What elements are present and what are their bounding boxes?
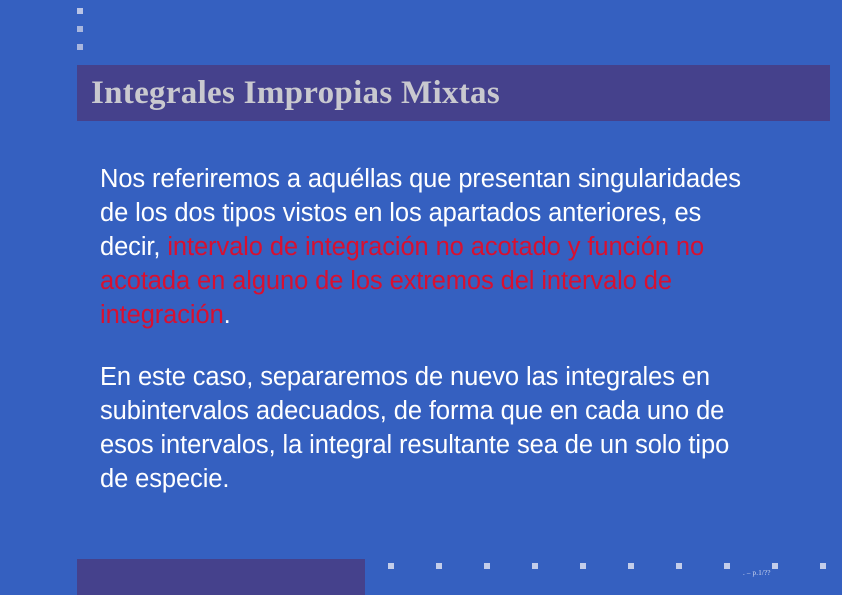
footer-dot-icon-6[interactable] bbox=[628, 563, 634, 569]
footer-dot-icon-8[interactable] bbox=[724, 563, 730, 569]
footer-progress-dots[interactable] bbox=[388, 559, 842, 595]
footer-accent-bar bbox=[77, 559, 365, 595]
slide-title: Integrales Impropias Mixtas bbox=[77, 77, 500, 110]
footer-dot-icon-5[interactable] bbox=[580, 563, 586, 569]
page-number-marker: . – p.1/?? bbox=[743, 569, 771, 577]
nav-dot-icon-2[interactable] bbox=[77, 26, 83, 32]
paragraph-2-segment-1: En este caso, separaremos de nuevo las i… bbox=[100, 363, 729, 493]
footer-dot-icon-9[interactable] bbox=[772, 563, 778, 569]
slide-body: Nos referiremos a aquéllas que presentan… bbox=[100, 162, 760, 496]
paragraph-1-segment-highlight: intervalo de integración no acotado y fu… bbox=[100, 233, 704, 329]
footer-dot-icon-10[interactable] bbox=[820, 563, 826, 569]
slide-title-band: Integrales Impropias Mixtas bbox=[77, 65, 830, 121]
nav-dot-icon-3[interactable] bbox=[77, 44, 83, 50]
nav-dot-icon-1[interactable] bbox=[77, 8, 83, 14]
paragraph-1-segment-3: . bbox=[224, 301, 231, 329]
footer-dot-icon-1[interactable] bbox=[388, 563, 394, 569]
body-paragraph-2: En este caso, separaremos de nuevo las i… bbox=[100, 360, 760, 496]
body-paragraph-1: Nos referiremos a aquéllas que presentan… bbox=[100, 162, 760, 332]
slide-navigation-dots[interactable] bbox=[77, 8, 91, 62]
presentation-slide: Integrales Impropias Mixtas Nos referire… bbox=[0, 0, 842, 595]
footer-dot-icon-2[interactable] bbox=[436, 563, 442, 569]
footer-dot-icon-3[interactable] bbox=[484, 563, 490, 569]
footer-dot-icon-4[interactable] bbox=[532, 563, 538, 569]
footer-dot-icon-7[interactable] bbox=[676, 563, 682, 569]
